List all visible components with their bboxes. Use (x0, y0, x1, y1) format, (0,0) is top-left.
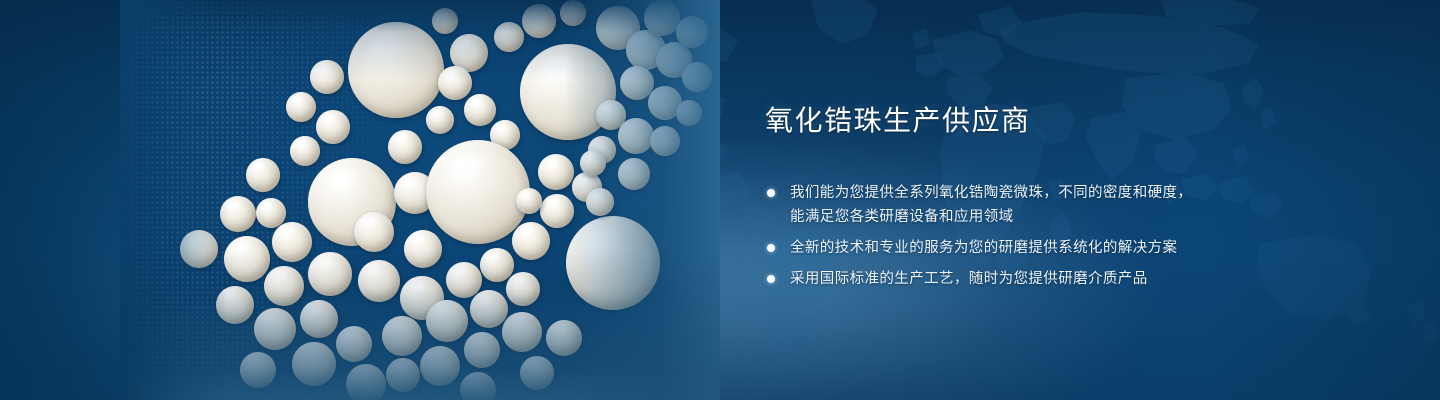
list-item: 我们能为您提供全系列氧化锆陶瓷微珠，不同的密度和硬度， 能满足您各类研磨设备和应… (765, 182, 1385, 228)
list-item: 采用国际标准的生产工艺，随时为您提供研磨介质产品 (765, 268, 1385, 290)
bullet-dot-icon (767, 189, 775, 197)
bullet-text-line: 全新的技术和专业的服务为您的研磨提供系统化的解决方案 (790, 237, 1385, 259)
banner-content: 氧化锆珠生产供应商 我们能为您提供全系列氧化锆陶瓷微珠，不同的密度和硬度， 能满… (765, 104, 1385, 290)
list-item: 全新的技术和专业的服务为您的研磨提供系统化的解决方案 (765, 237, 1385, 259)
feature-bullet-list: 我们能为您提供全系列氧化锆陶瓷微珠，不同的密度和硬度， 能满足您各类研磨设备和应… (765, 182, 1385, 290)
bullet-dot-icon (767, 244, 775, 252)
page-title: 氧化锆珠生产供应商 (765, 104, 1385, 138)
bullet-text-line: 我们能为您提供全系列氧化锆陶瓷微珠，不同的密度和硬度， (790, 182, 1385, 204)
hero-banner: 氧化锆珠生产供应商 我们能为您提供全系列氧化锆陶瓷微珠，不同的密度和硬度， 能满… (0, 0, 1440, 400)
bullet-dot-icon (767, 275, 775, 283)
bullet-text-line: 采用国际标准的生产工艺，随时为您提供研磨介质产品 (790, 268, 1385, 290)
bullet-text-line: 能满足您各类研磨设备和应用领域 (790, 206, 1385, 228)
